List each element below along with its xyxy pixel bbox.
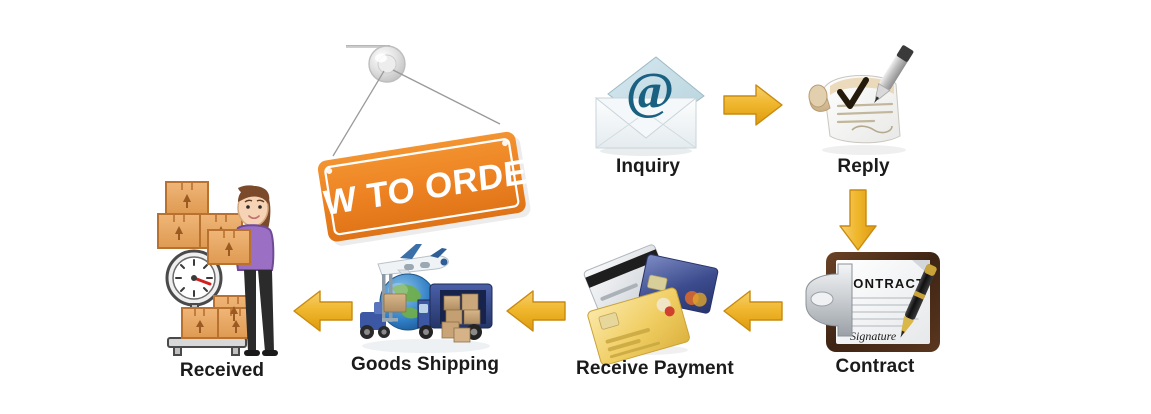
step-received-label: Received — [152, 360, 292, 382]
sign-board: HOW TO ORDER — [263, 125, 561, 256]
step-receive-payment-label: Receive Payment — [576, 358, 716, 380]
arrow-reply-to-contract — [838, 188, 878, 252]
plane-globe-truck-icon — [348, 240, 506, 358]
contract-signature: Signature — [850, 329, 897, 343]
step-inquiry[interactable]: @ Inquiry — [578, 52, 718, 157]
step-contract[interactable]: CONTRACT Signature Contra — [800, 246, 950, 358]
svg-text:@: @ — [626, 63, 674, 120]
how-to-order-sign: HOW TO ORDER HOW TO ORDER — [300, 38, 550, 248]
sign-hook-icon — [369, 46, 405, 82]
step-goods-shipping[interactable]: Goods Shipping — [348, 240, 506, 358]
step-received[interactable]: Received — [152, 174, 292, 360]
arrow-inquiry-to-reply — [722, 82, 784, 128]
how-to-order-infographic: HOW TO ORDER HOW TO ORDER — [0, 0, 1151, 414]
step-reply[interactable]: Reply — [796, 40, 931, 158]
step-inquiry-label: Inquiry — [578, 156, 718, 178]
arrow-contract-to-payment — [722, 288, 784, 334]
woman-boxes-scale-icon — [152, 174, 292, 360]
step-goods-shipping-label: Goods Shipping — [345, 354, 505, 376]
arrow-payment-to-shipping — [505, 288, 567, 334]
contract-heading: CONTRACT — [843, 276, 926, 291]
envelope-at-icon: @ — [578, 52, 718, 157]
step-reply-label: Reply — [796, 156, 931, 178]
step-receive-payment[interactable]: Receive Payment — [582, 246, 710, 356]
scroll-check-pen-icon — [796, 40, 931, 158]
credit-cards-icon — [582, 246, 710, 356]
step-contract-label: Contract — [800, 356, 950, 378]
clipboard-contract-pen-icon: CONTRACT Signature — [800, 246, 950, 358]
arrow-shipping-to-received — [292, 288, 354, 334]
